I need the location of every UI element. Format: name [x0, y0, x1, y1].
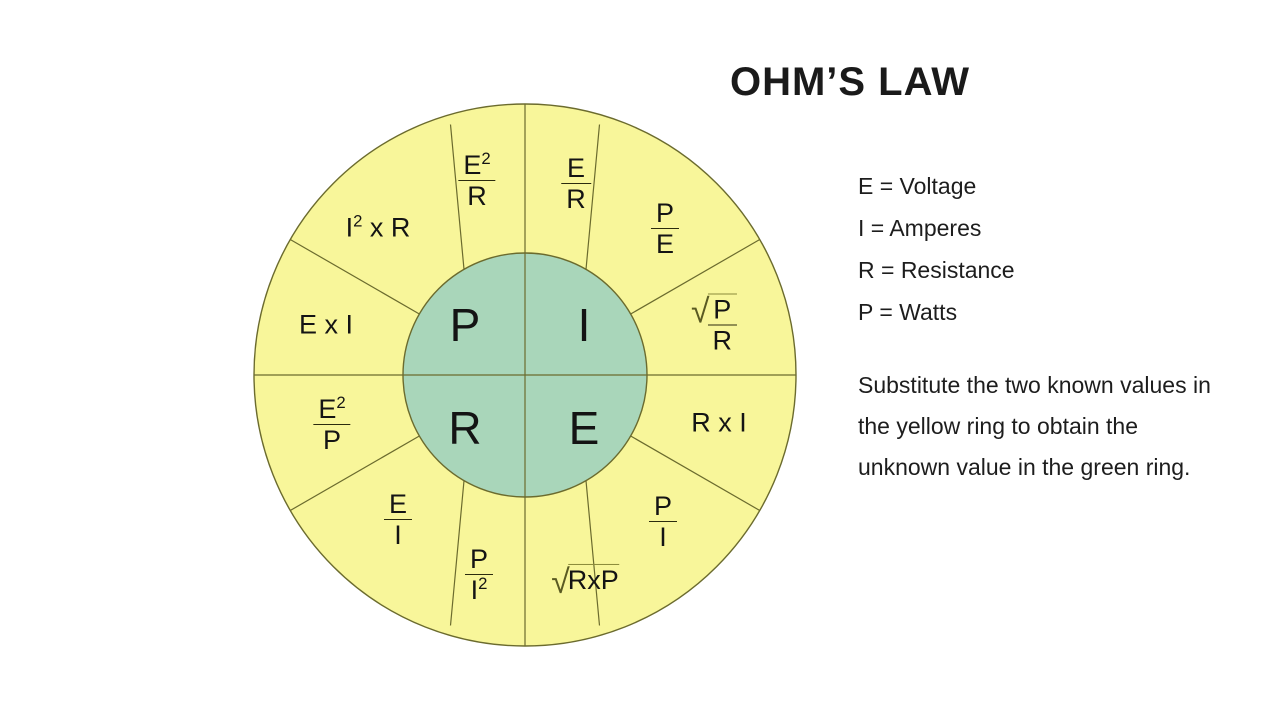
ohms-law-wheel: P I R E E R P E √ P [253, 103, 797, 647]
wheel-diagram [253, 103, 797, 647]
legend-item-amperes: I = Amperes [858, 207, 1258, 249]
slide-canvas: OHM’S LAW [0, 0, 1280, 720]
legend-item-resistance: R = Resistance [858, 249, 1258, 291]
instruction-note: Substitute the two known values in the y… [858, 365, 1230, 488]
page-title: OHM’S LAW [640, 60, 1060, 105]
legend-item-voltage: E = Voltage [858, 165, 1258, 207]
symbol-legend: E = Voltage I = Amperes R = Resistance P… [858, 165, 1258, 333]
legend-item-watts: P = Watts [858, 291, 1258, 333]
